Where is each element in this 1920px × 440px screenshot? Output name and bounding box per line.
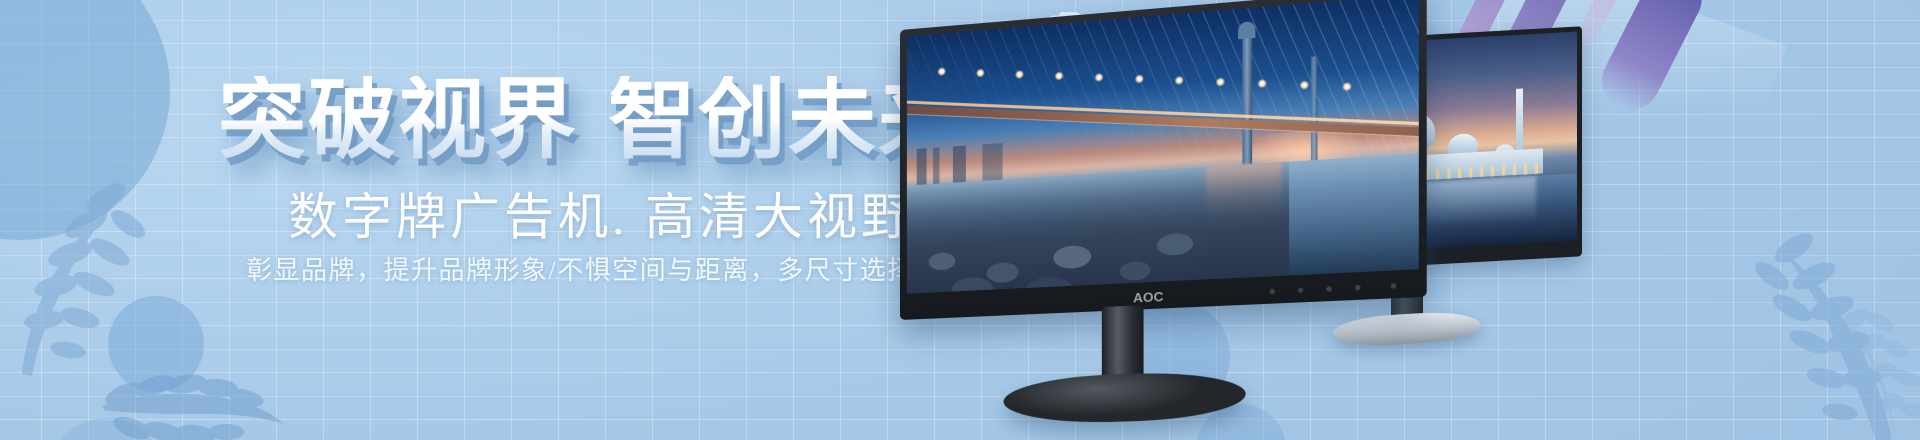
monitor-front-stand-base	[1004, 370, 1246, 425]
monitor-front-screen	[907, 0, 1419, 294]
description: 彰显品牌，提升品牌形象/不惧空间与距离，多尺寸选择	[246, 258, 915, 284]
headline: 突破视界智创未来	[218, 76, 968, 164]
monitor-front: AOC	[900, 0, 1427, 320]
headline-part-1: 突破视界	[218, 70, 578, 169]
subtitle: 数字牌广告机. 高清大视野	[288, 192, 915, 242]
aoc-logo: AOC	[1133, 289, 1163, 306]
suspension-bridge-at-sunset-image	[907, 0, 1419, 294]
product-group: AOC	[880, 0, 1920, 440]
monitor-rear-stand-base	[1333, 310, 1481, 348]
promo-banner: 突破视界智创未来 数字牌广告机. 高清大视野 彰显品牌，提升品牌形象/不惧空间与…	[0, 0, 1920, 440]
